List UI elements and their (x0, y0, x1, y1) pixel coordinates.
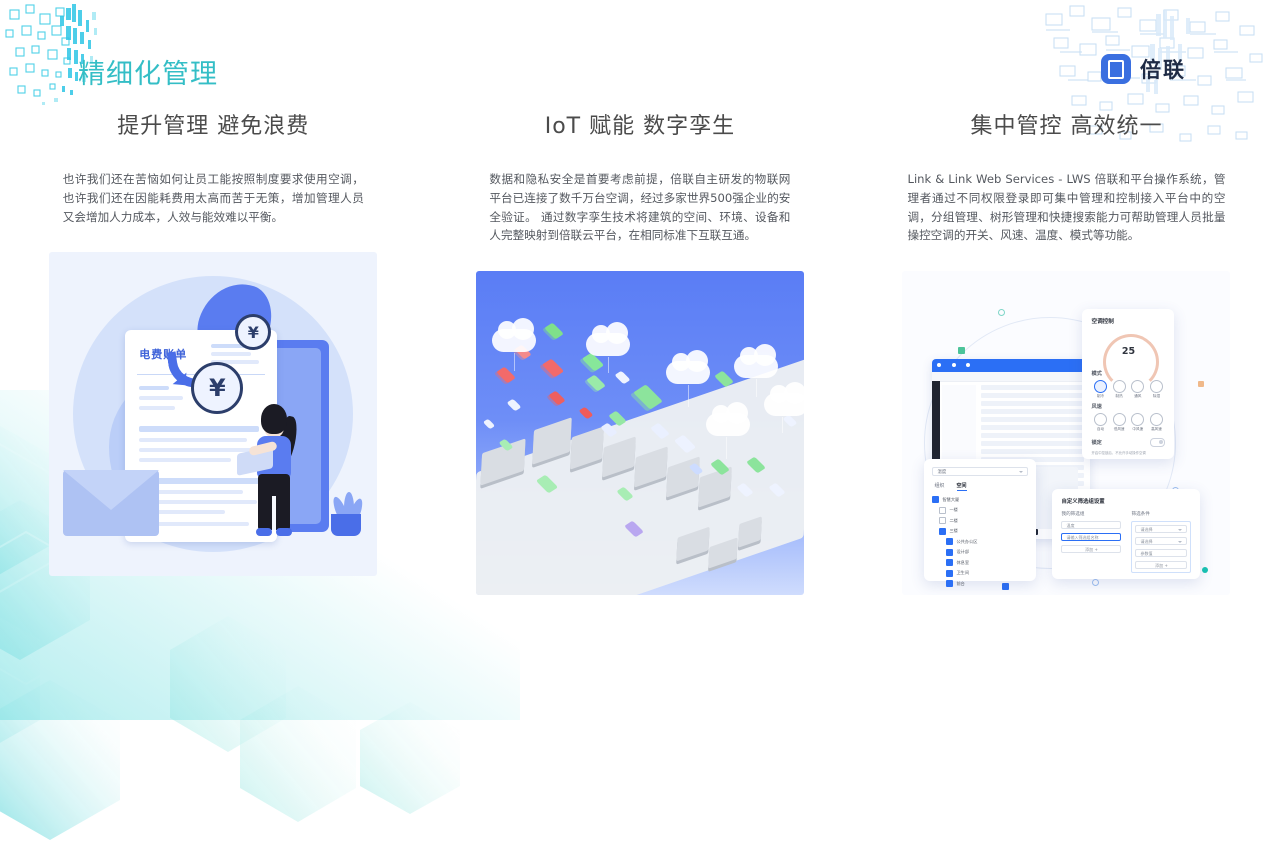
low-fan-icon (1113, 413, 1126, 426)
column-3-heading: 集中管控 高效统一 (853, 108, 1280, 140)
hair (261, 404, 287, 434)
mode-label: 制冷 (1091, 394, 1109, 399)
mode-label: 通风 (1129, 394, 1147, 399)
ac-panel-title: 空调控制 (1091, 317, 1165, 325)
temperature-value: 25 (1103, 346, 1153, 357)
mode-button-cool[interactable]: 制冷 (1091, 380, 1109, 399)
tree-item[interactable]: 设计部 (946, 549, 1028, 556)
tree-item-label: 一楼 (949, 507, 957, 513)
drop-icon (1150, 380, 1163, 393)
grid-row (981, 409, 1084, 414)
grid-row (981, 425, 1084, 430)
cloud-icon (764, 393, 804, 416)
filter-condition-box: 请选择 请选择 参数值 添加 + (1131, 521, 1191, 573)
content-columns: 提升管理 避免浪费 也许我们还在苦恼如何让员工能按照制度要求使用空调，也许我们还… (0, 108, 1280, 595)
tree-item[interactable]: 前台 (946, 580, 1028, 587)
decorative-dot (1202, 567, 1208, 573)
page-title: 精细化管理 (78, 52, 218, 91)
lws-dashboard-illustration: 空调控制 25 模式 制冷 制热 通风 除湿 风速 自动 低风速 中风速 高 (902, 271, 1230, 595)
fan-section-label: 风速 (1091, 403, 1165, 410)
condition-add-button[interactable]: 添加 + (1135, 561, 1187, 569)
tree-item-label: 三楼 (949, 528, 957, 534)
tree-item-label: 智慧大厦 (942, 497, 959, 503)
filter-name-field[interactable]: 温度 (1061, 521, 1121, 529)
bill-line (139, 386, 169, 390)
grid-row (981, 433, 1084, 438)
decorative-dot (958, 347, 965, 354)
potted-plant-icon (331, 496, 361, 536)
bill-line (139, 406, 175, 410)
tree-tabs: 组织 空间 (934, 482, 1028, 491)
person-figure (245, 404, 305, 538)
grid-row (981, 401, 1084, 406)
fan-label: 低风速 (1110, 427, 1128, 432)
snowflake-icon (1094, 380, 1107, 393)
bill-line (139, 448, 255, 452)
column-2-body: 数据和隐私安全是首要考虑前提，倍联自主研发的物联网平台已连接了数千万台空调，经过… (489, 170, 790, 245)
fan-button-mid[interactable]: 中风速 (1129, 413, 1147, 432)
condition-value-field[interactable]: 参数值 (1135, 549, 1187, 557)
fan-button-low[interactable]: 低风速 (1110, 413, 1128, 432)
column-iot-digital-twin: IoT 赋能 数字孪生 数据和隐私安全是首要考虑前提，倍联自主研发的物联网平台已… (427, 108, 854, 595)
filter-columns: 我的筛选组 温度 请输入筛选组名称 添加 + 筛选条件 请选择 请选择 参数值 … (1061, 511, 1191, 573)
column-1-body: 也许我们还在苦恼如何让员工能按照制度要求使用空调，也许我们还在因能耗费用太高而苦… (63, 170, 364, 226)
tree-item-label: 设计部 (956, 549, 969, 555)
checkbox-icon[interactable] (946, 549, 953, 556)
tree-item-label: 公共办公区 (956, 539, 977, 545)
grid-row (981, 417, 1084, 422)
cloud-icon (666, 361, 710, 384)
filter-right-header: 筛选条件 (1131, 511, 1191, 517)
filter-panel-title: 自定义筛选组设置 (1061, 497, 1191, 505)
tree-item-label: 休息室 (956, 560, 969, 566)
shoe-left (256, 528, 272, 536)
grid-row (981, 385, 1084, 390)
cloud-stem (726, 437, 727, 459)
tree-item[interactable]: 一楼 (939, 507, 1028, 514)
tree-item[interactable]: 二楼 (939, 517, 1028, 524)
cloud-stem (782, 417, 783, 433)
checkbox-icon[interactable] (946, 538, 953, 545)
bill-line (139, 458, 231, 462)
ac-control-panel: 空调控制 25 模式 制冷 制热 通风 除湿 风速 自动 低风速 中风速 高 (1082, 309, 1174, 459)
lock-toggle-row[interactable]: 锁定 (1091, 438, 1165, 447)
brand-logo: 倍联 (1101, 54, 1186, 84)
tree-item-label: 前台 (956, 581, 964, 587)
window-dot (966, 363, 970, 367)
column-2-heading: IoT 赋能 数字孪生 (427, 108, 854, 140)
checkbox-icon[interactable] (946, 580, 953, 587)
envelope-icon (63, 470, 159, 536)
checkbox-icon[interactable] (946, 559, 953, 566)
mode-label: 除湿 (1147, 394, 1165, 399)
cloud-stem (608, 357, 609, 373)
fan-label: 自动 (1091, 427, 1109, 432)
checkbox-icon[interactable] (939, 517, 946, 524)
brand-mark-icon (1101, 54, 1131, 84)
column-1-heading: 提升管理 避免浪费 (0, 108, 427, 140)
bill-line (139, 438, 247, 442)
fan-label: 中风速 (1129, 427, 1147, 432)
cloud-icon (492, 329, 536, 352)
window-dot (937, 363, 941, 367)
column-improve-management: 提升管理 避免浪费 也许我们还在苦恼如何让员工能按照制度要求使用空调，也许我们还… (0, 108, 427, 595)
tree-select-dropdown[interactable]: 温度 (932, 467, 1028, 476)
checkbox-icon[interactable] (939, 528, 946, 535)
column-centralized-control: 集中管控 高效统一 Link & Link Web Services - LWS… (853, 108, 1280, 595)
tree-item[interactable]: 智慧大厦 (932, 496, 1028, 503)
space-tree-panel: 温度 组织 空间 智慧大厦 一楼 二楼 三楼 公共办公区 设计部 休息室 卫生间… (924, 459, 1036, 581)
grid-row (981, 449, 1084, 454)
mode-button-dry[interactable]: 除湿 (1147, 380, 1165, 399)
filter-name-input[interactable]: 请输入筛选组名称 (1061, 533, 1121, 541)
legs-gap (272, 496, 276, 530)
decorative-dot (1092, 579, 1099, 586)
decorative-dot (1198, 381, 1204, 387)
filter-add-button[interactable]: 添加 + (1061, 545, 1121, 553)
cloud-icon (734, 355, 778, 378)
shoe-right (276, 528, 292, 536)
tree-item-label: 卫生间 (956, 570, 969, 576)
grid-row (981, 393, 1084, 398)
tab-space[interactable]: 空间 (957, 482, 967, 491)
fan-button-auto[interactable]: 自动 (1091, 413, 1109, 432)
decorative-dot (998, 309, 1005, 316)
mid-fan-icon (1131, 413, 1144, 426)
custom-filter-panel: 自定义筛选组设置 我的筛选组 温度 请输入筛选组名称 添加 + 筛选条件 请选择… (1052, 489, 1200, 579)
auto-a-icon (1094, 413, 1107, 426)
checkbox-icon[interactable] (946, 570, 953, 577)
cloud-stem (688, 385, 689, 407)
brand-name: 倍联 (1140, 54, 1186, 84)
tree-item[interactable]: 三楼 (939, 528, 1028, 535)
tab-organization[interactable]: 组织 (934, 482, 944, 491)
window-dot (952, 363, 956, 367)
digital-twin-illustration (476, 271, 804, 595)
lock-label: 锁定 (1091, 439, 1101, 446)
cloud-stem (756, 379, 757, 397)
checkbox-icon[interactable] (932, 496, 939, 503)
tree-item[interactable]: 休息室 (946, 559, 1028, 566)
cloud-stem (514, 353, 515, 371)
mode-label: 制热 (1110, 394, 1128, 399)
high-fan-icon (1150, 413, 1163, 426)
column-3-body: Link & Link Web Services - LWS 倍联和平台操作系统… (907, 170, 1225, 245)
tree-item-label: 二楼 (949, 518, 957, 524)
pot (331, 514, 361, 536)
window-titlebar (932, 359, 1090, 372)
tree-item[interactable]: 卫生间 (946, 570, 1028, 577)
temperature-dial[interactable]: 25 (1103, 334, 1153, 366)
lock-note: 开启中控锁后，不允许手动操作空调 (1091, 450, 1165, 455)
condition-select-1[interactable]: 请选择 (1135, 525, 1187, 533)
checkbox-icon[interactable] (939, 507, 946, 514)
electricity-bill-illustration: 电费账单 ¥ ¥ (49, 252, 377, 576)
condition-select-2[interactable]: 请选择 (1135, 537, 1187, 545)
fan-button-high[interactable]: 高风速 (1147, 413, 1165, 432)
filter-left-column: 我的筛选组 温度 请输入筛选组名称 添加 + (1061, 511, 1121, 573)
bill-line (139, 396, 183, 400)
grid-row (981, 441, 1084, 446)
fan-label: 高风速 (1147, 427, 1165, 432)
filter-right-column: 筛选条件 请选择 请选择 参数值 添加 + (1131, 511, 1191, 573)
cloud-icon (586, 333, 630, 356)
fan-speed-buttons: 自动 低风速 中风速 高风速 (1091, 413, 1165, 432)
filter-left-header: 我的筛选组 (1061, 511, 1121, 517)
cloud-icon (706, 413, 750, 436)
bill-line (139, 426, 259, 432)
tree-item[interactable]: 公共办公区 (946, 538, 1028, 545)
lock-toggle-switch[interactable] (1150, 438, 1165, 447)
